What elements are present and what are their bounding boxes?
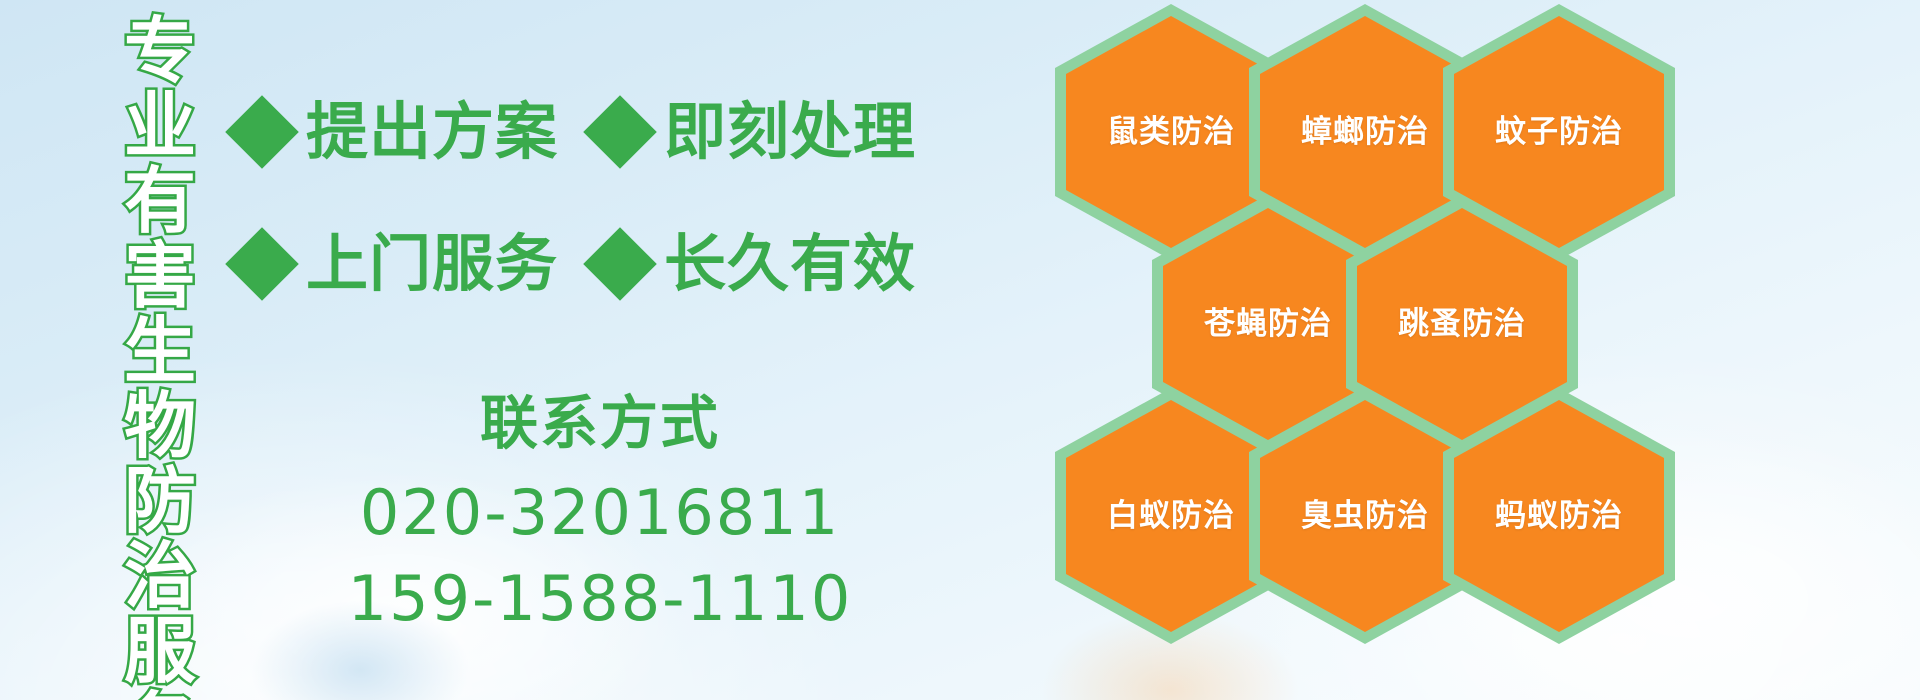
contact-title: 联系方式 bbox=[300, 390, 900, 456]
service-hex-label: 蟑螂防治 bbox=[1301, 115, 1429, 149]
vertical-slogan-char: 害 bbox=[124, 239, 196, 314]
feature-label: 提出方案 bbox=[306, 99, 558, 165]
service-honeycomb: 鼠类防治 蟑螂防治 蚊子防治 苍蝇防治 跳蚤防治 白蚁防治 臭虫防治 蚂蚁 bbox=[1055, 0, 1675, 700]
vertical-slogan-char: 有 bbox=[124, 164, 196, 239]
feature-row: 上门服务 长久有效 bbox=[236, 214, 896, 314]
service-hex-label: 蚂蚁防治 bbox=[1495, 499, 1623, 533]
vertical-slogan-char: 生 bbox=[124, 314, 196, 389]
service-hex-label: 臭虫防治 bbox=[1301, 499, 1429, 533]
diamond-bullet-icon bbox=[583, 227, 657, 301]
service-hex-label: 跳蚤防治 bbox=[1398, 307, 1526, 341]
vertical-slogan-char: 专 bbox=[124, 14, 196, 89]
feature-label: 即刻处理 bbox=[664, 99, 916, 165]
contact-phone-landline[interactable]: 020-32016811 bbox=[300, 470, 900, 556]
diamond-bullet-icon bbox=[225, 95, 299, 169]
contact-phone-mobile[interactable]: 159-1588-1110 bbox=[300, 556, 900, 642]
feature-label: 上门服务 bbox=[306, 231, 558, 297]
contact-block: 联系方式 020-32016811 159-1588-1110 bbox=[300, 390, 900, 642]
vertical-slogan-char: 务 bbox=[124, 689, 196, 700]
diamond-bullet-icon bbox=[225, 227, 299, 301]
feature-item-onsite-service: 上门服务 bbox=[236, 231, 558, 297]
feature-item-immediate-handling: 即刻处理 bbox=[594, 99, 916, 165]
vertical-slogan-char: 服 bbox=[124, 614, 196, 689]
feature-item-propose-plan: 提出方案 bbox=[236, 99, 558, 165]
diamond-bullet-icon bbox=[583, 95, 657, 169]
pest-control-banner: 专 业 有 害 生 物 防 治 服 务 提出方案 即刻处理 上门服务 bbox=[0, 0, 1920, 700]
feature-label: 长久有效 bbox=[664, 231, 916, 297]
vertical-slogan-char: 物 bbox=[124, 389, 196, 464]
service-hex-label: 鼠类防治 bbox=[1107, 115, 1235, 149]
vertical-slogan-char: 防 bbox=[124, 464, 196, 539]
vertical-slogan-char: 治 bbox=[124, 539, 196, 614]
service-hex-label: 蚊子防治 bbox=[1495, 115, 1623, 149]
feature-item-long-lasting: 长久有效 bbox=[594, 231, 916, 297]
feature-list: 提出方案 即刻处理 上门服务 长久有效 bbox=[236, 82, 896, 314]
feature-row: 提出方案 即刻处理 bbox=[236, 82, 896, 182]
service-hex-label: 白蚁防治 bbox=[1107, 499, 1235, 533]
vertical-slogan: 专 业 有 害 生 物 防 治 服 务 bbox=[112, 14, 208, 700]
vertical-slogan-char: 业 bbox=[124, 89, 196, 164]
service-hex-label: 苍蝇防治 bbox=[1204, 307, 1332, 341]
